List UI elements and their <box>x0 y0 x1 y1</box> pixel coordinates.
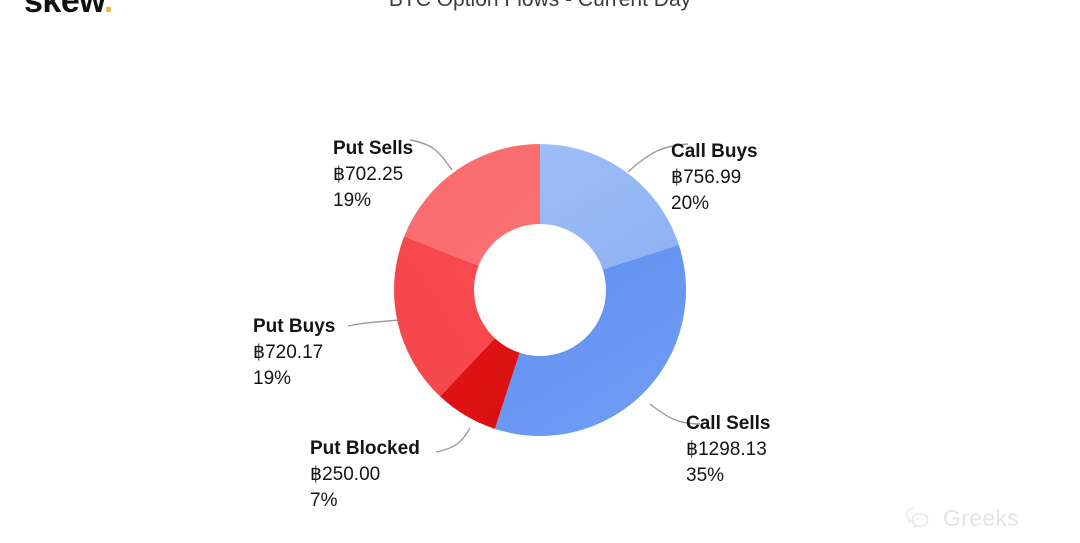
watermark-text: Greeks <box>943 505 1019 532</box>
callout-percent: 35% <box>686 463 771 489</box>
callout-label: Call Buys <box>671 139 758 165</box>
slice-call-buys[interactable] <box>540 144 679 270</box>
callout-label: Put Buys <box>253 314 335 340</box>
callout-value: ฿250.00 <box>310 462 420 488</box>
callout-percent: 20% <box>671 191 758 217</box>
slice-call-sells[interactable] <box>495 245 686 436</box>
callout-value: ฿756.99 <box>671 165 758 191</box>
watermark: Greeks <box>905 505 1019 532</box>
callout-label: Put Sells <box>333 136 413 162</box>
callout-percent: 7% <box>310 488 420 514</box>
callout-label: Call Sells <box>686 411 771 437</box>
callout-value: ฿702.25 <box>333 162 413 188</box>
callout-put-sells: Put Sells ฿702.25 19% <box>333 136 413 214</box>
callout-call-buys: Call Buys ฿756.99 20% <box>671 139 758 217</box>
donut-chart-svg <box>390 140 690 440</box>
chart-page: skew. BTC Option Flows - Current Day <box>0 0 1080 543</box>
donut-chart <box>390 140 690 440</box>
callout-put-buys: Put Buys ฿720.17 19% <box>253 314 335 392</box>
callout-label: Put Blocked <box>310 436 420 462</box>
callout-put-blocked: Put Blocked ฿250.00 7% <box>310 436 420 514</box>
callout-value: ฿1298.13 <box>686 437 771 463</box>
wechat-bubbles-icon <box>905 506 935 532</box>
callout-call-sells: Call Sells ฿1298.13 35% <box>686 411 771 489</box>
page-title: BTC Option Flows - Current Day <box>0 0 1080 13</box>
callout-percent: 19% <box>253 366 335 392</box>
callout-percent: 19% <box>333 188 413 214</box>
callout-value: ฿720.17 <box>253 340 335 366</box>
donut-slices <box>394 144 686 436</box>
